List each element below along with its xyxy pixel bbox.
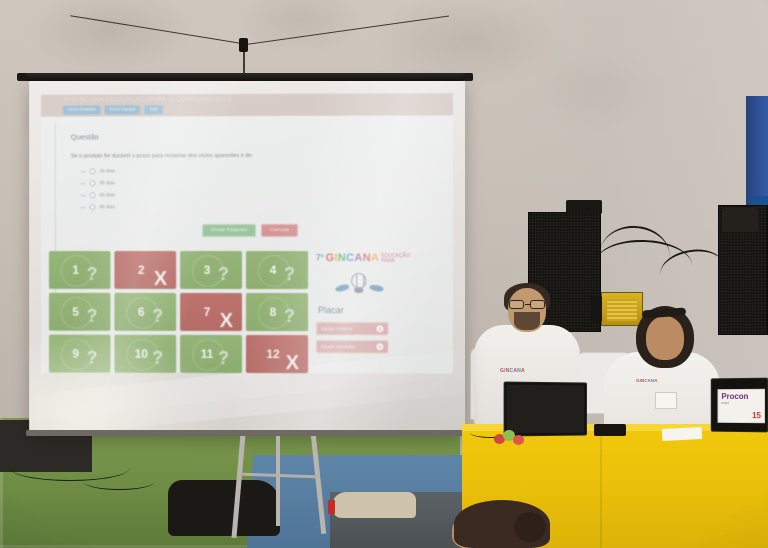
photo-scene: GINCANA GINCANA Procon PARÁ 15 bbox=[0, 0, 768, 548]
tile-mark-1: ? bbox=[87, 264, 98, 285]
team-name-2: Equipe Vermelha bbox=[321, 344, 355, 349]
screen-sun-glare bbox=[29, 330, 228, 435]
logo-letter-3: N bbox=[338, 252, 346, 264]
option-row-4[interactable]: 90 dias bbox=[81, 204, 431, 210]
option-label-2: 30 dias bbox=[100, 181, 115, 186]
red-can bbox=[328, 500, 335, 514]
tile-number-4: 4 bbox=[270, 263, 277, 277]
tile-mark-6: ? bbox=[152, 306, 163, 327]
tile-mark-4: ? bbox=[284, 264, 295, 285]
man-glasses bbox=[508, 300, 546, 309]
option-leader-1 bbox=[81, 171, 86, 172]
option-label-1: 15 dias bbox=[100, 169, 115, 174]
nav-new-team[interactable]: Nova Equipe bbox=[105, 106, 141, 115]
logo-letter-4: C bbox=[346, 252, 354, 264]
tile-mark-8: ? bbox=[284, 306, 295, 327]
tile-mark-12: X bbox=[286, 352, 299, 375]
option-leader-4 bbox=[81, 207, 86, 208]
question-heading: Questão bbox=[71, 131, 431, 141]
option-row-2[interactable]: 30 dias bbox=[81, 180, 431, 187]
tripod-leg-center bbox=[276, 434, 280, 526]
team-row-2[interactable]: Equipe Vermelha 0 bbox=[316, 340, 388, 353]
floor-cloth bbox=[332, 492, 416, 518]
option-row-3[interactable]: 60 dias bbox=[81, 192, 431, 199]
option-leader-3 bbox=[81, 195, 86, 196]
tile-mark-5: ? bbox=[87, 306, 98, 327]
tile-mark-3: ? bbox=[218, 264, 229, 285]
team-row-1[interactable]: Equipe Amarela 0 bbox=[316, 322, 388, 335]
projector-screen-bottom-bar bbox=[26, 430, 466, 436]
paper-sheets bbox=[662, 427, 703, 441]
sticker-brand: Procon bbox=[718, 390, 764, 401]
equipment-bag bbox=[168, 480, 280, 536]
tile-mark-2: X bbox=[154, 268, 167, 291]
option-label-4: 90 dias bbox=[100, 205, 115, 210]
tile-6[interactable]: 6? bbox=[114, 293, 176, 331]
tile-3[interactable]: 3? bbox=[180, 251, 242, 289]
team-score-1: 0 bbox=[376, 325, 383, 332]
tile-number-1: 1 bbox=[72, 263, 79, 277]
tile-number-3: 3 bbox=[204, 263, 211, 277]
team-score-2: 0 bbox=[376, 343, 383, 350]
radio-option-3[interactable] bbox=[90, 192, 96, 198]
logo-subtitle-line2: PARA bbox=[381, 259, 410, 264]
tile-number-12: 12 bbox=[266, 347, 279, 361]
radio-option-2[interactable] bbox=[90, 180, 96, 186]
tile-number-5: 5 bbox=[72, 305, 79, 319]
laptop-left bbox=[504, 382, 587, 437]
table-decoration bbox=[494, 430, 528, 446]
option-leader-2 bbox=[81, 183, 86, 184]
save-answer-button[interactable]: Gravar Resposta bbox=[202, 224, 256, 237]
cable-coil bbox=[566, 200, 602, 214]
app-nav: Nova Rodada Nova Equipe Sair bbox=[41, 104, 453, 114]
amplifier-knob bbox=[590, 296, 602, 322]
team-name-1: Equipe Amarela bbox=[321, 326, 352, 331]
app-header: 7ª GINCANA EDUCAÇÃO PARA O CONSUMO 2017 … bbox=[41, 93, 453, 116]
procon-sticker: Procon PARÁ 15 bbox=[718, 389, 766, 423]
woman-shirt-logo: GINCANA bbox=[636, 378, 686, 388]
nav-new-round[interactable]: Nova Rodada bbox=[63, 106, 101, 115]
woman-id-badge bbox=[655, 392, 677, 409]
tile-12[interactable]: 12X bbox=[246, 335, 308, 373]
tile-5[interactable]: 5? bbox=[49, 293, 111, 331]
tile-4[interactable]: 4? bbox=[246, 251, 308, 289]
floor-cable-2 bbox=[84, 474, 154, 490]
radio-option-4[interactable] bbox=[90, 204, 96, 210]
sticker-sub: PARÁ bbox=[718, 401, 764, 405]
tile-1[interactable]: 1? bbox=[49, 251, 111, 289]
option-label-3: 60 dias bbox=[100, 193, 115, 198]
mobile-phone bbox=[594, 424, 626, 436]
projector-screen: 7ª GINCANA EDUCAÇÃO PARA O CONSUMO 2017 … bbox=[29, 79, 465, 436]
logo-edition: 7ª bbox=[316, 253, 323, 262]
sticker-number: 15 bbox=[752, 411, 761, 420]
tile-number-6: 6 bbox=[138, 305, 145, 319]
logo-wordmark: GINCANA bbox=[326, 253, 380, 264]
screen-hook-stem bbox=[243, 48, 245, 76]
cancel-button[interactable]: Cancelar bbox=[261, 224, 298, 237]
yellow-amplifier bbox=[601, 292, 643, 326]
gincana-logo: 7ª GINCANA EDUCAÇÃO PARA bbox=[316, 253, 435, 265]
logo-subtitle: EDUCAÇÃO PARA bbox=[381, 253, 410, 265]
question-text: Se o produto for durável o prazo para re… bbox=[71, 153, 431, 160]
tile-number-2: 2 bbox=[138, 263, 145, 277]
projector-screen-top-bar bbox=[24, 73, 466, 81]
tile-2[interactable]: 2X bbox=[114, 251, 176, 289]
option-row-1[interactable]: 15 dias bbox=[81, 168, 431, 175]
man-shirt-logo: GINCANA bbox=[500, 368, 544, 380]
radio-option-1[interactable] bbox=[90, 168, 96, 174]
tile-number-8: 8 bbox=[270, 305, 277, 319]
question-card: Questão Se o produto for durável o prazo… bbox=[41, 125, 453, 237]
woman-head bbox=[646, 316, 684, 360]
tablecloth-fold bbox=[600, 430, 602, 548]
laptop-right: Procon PARÁ 15 bbox=[711, 378, 768, 433]
nav-logout[interactable]: Sair bbox=[145, 105, 163, 114]
foreground-person-bun bbox=[514, 512, 546, 542]
tile-number-7: 7 bbox=[204, 305, 211, 319]
screen-wall-hook bbox=[239, 38, 248, 52]
tile-8[interactable]: 8? bbox=[246, 293, 308, 331]
logo-letter-6: N bbox=[363, 252, 371, 264]
app-title: 7ª GINCANA EDUCAÇÃO PARA O CONSUMO 2017 bbox=[41, 95, 453, 104]
question-actions: Gravar Resposta Cancelar bbox=[71, 224, 431, 237]
speaker-horn bbox=[722, 208, 758, 232]
logo-letter-1: G bbox=[326, 252, 335, 264]
side-panel: 7ª GINCANA EDUCAÇÃO PARA bbox=[316, 251, 435, 374]
scoreboard-heading: Placar bbox=[318, 305, 435, 315]
tile-7[interactable]: 7X bbox=[180, 293, 242, 331]
logo-letter-7: A bbox=[371, 252, 379, 264]
man-beard bbox=[514, 312, 540, 330]
lightbulb-wings-icon bbox=[342, 273, 376, 295]
